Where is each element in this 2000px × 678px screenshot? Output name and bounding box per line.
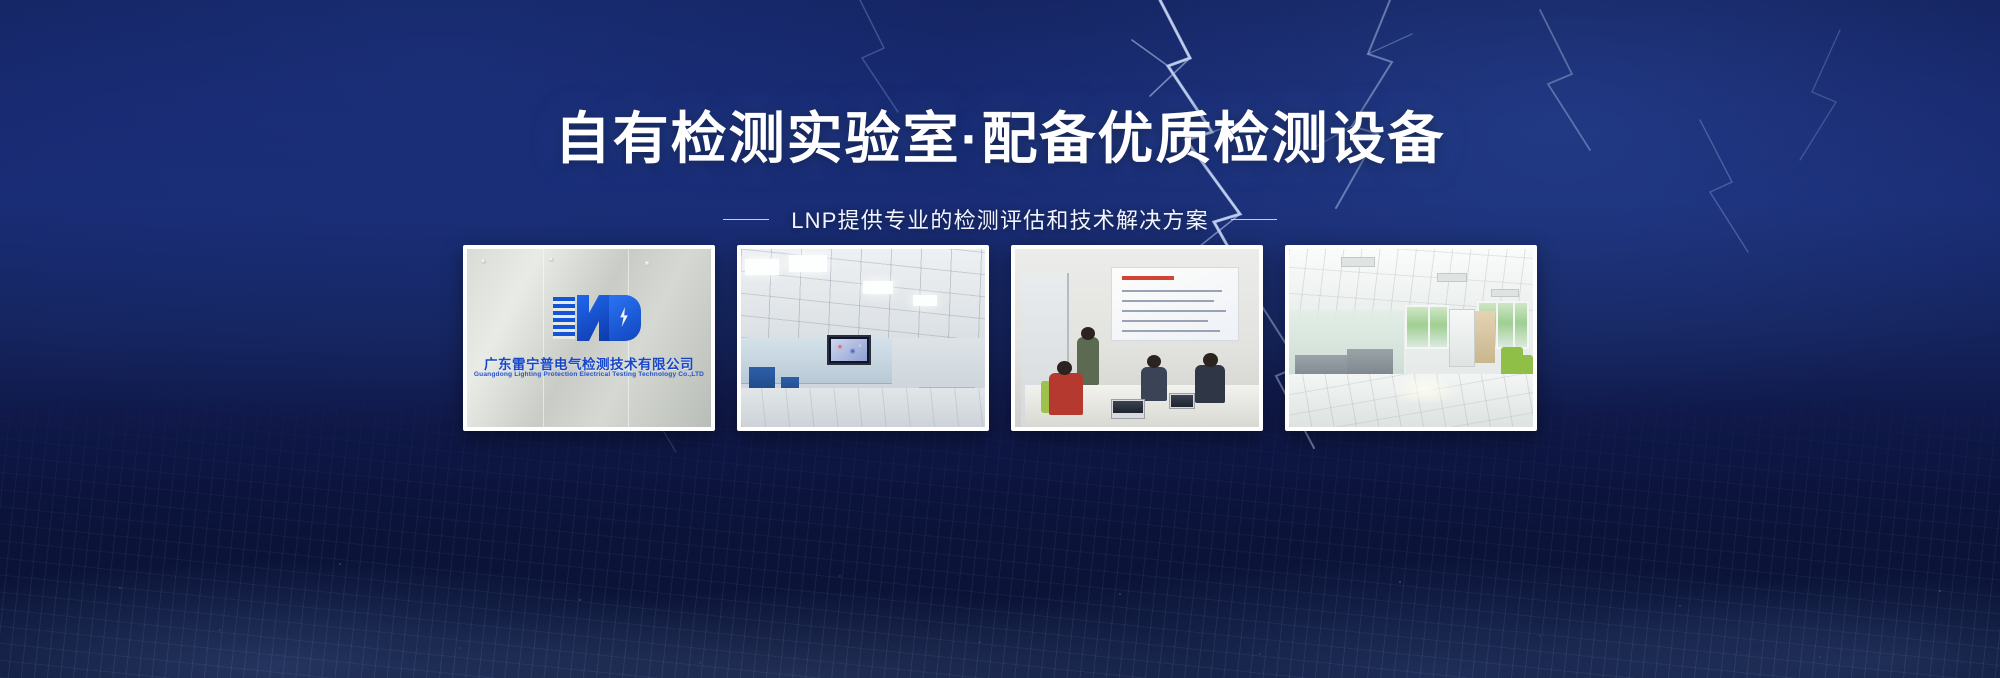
wall-seam xyxy=(543,249,544,427)
person-seated xyxy=(1195,365,1225,403)
person-presenter-head xyxy=(1081,327,1095,340)
subtitle-rule-left xyxy=(723,219,769,220)
ceiling-vent xyxy=(1491,289,1519,297)
slide-line xyxy=(1122,300,1214,302)
wall-screw xyxy=(549,257,554,262)
window xyxy=(1405,305,1449,349)
banner-subtitle: LNP提供专业的检测评估和技术解决方案 xyxy=(791,203,1209,235)
ceiling-light xyxy=(789,255,827,272)
lnp-logo-icon xyxy=(553,293,641,343)
person-seated-head xyxy=(1147,355,1161,368)
logo-letter-n xyxy=(577,295,611,341)
person-seated-head xyxy=(1203,353,1218,367)
wall-screw xyxy=(481,259,486,264)
hero-banner: 自有检测实验室·配备优质检测设备 LNP提供专业的检测评估和技术解决方案 广东雷… xyxy=(0,0,2000,678)
wall-screw xyxy=(645,261,650,266)
slide-line xyxy=(1122,330,1220,332)
office-photo xyxy=(1289,249,1533,427)
sunlight-reflection xyxy=(1389,375,1459,405)
slide-line xyxy=(1122,290,1222,292)
ceiling-vent xyxy=(1341,257,1375,267)
person-seated xyxy=(1049,373,1083,415)
gallery-panel-training-meeting-room[interactable] xyxy=(1011,245,1263,431)
person-seated-head xyxy=(1057,361,1072,375)
slide-line xyxy=(1122,310,1226,312)
shelf-unit xyxy=(1475,311,1495,363)
company-name-cn: 广东雷宁普电气检测技术有限公司 xyxy=(467,353,711,373)
signage-photo: 广东雷宁普电气检测技术有限公司 Guangdong Lighting Prote… xyxy=(467,249,711,427)
ceiling-light xyxy=(745,259,779,275)
floor xyxy=(741,388,985,427)
gallery-panel-testing-laboratory[interactable] xyxy=(737,245,989,431)
banner-subtitle-row: LNP提供专业的检测评估和技术解决方案 xyxy=(0,203,2000,235)
gallery-panel-office-area[interactable] xyxy=(1285,245,1537,431)
slide-title xyxy=(1122,276,1174,280)
company-name-en: Guangdong Lighting Protection Electrical… xyxy=(467,371,711,378)
logo-bars xyxy=(553,297,575,339)
laptop xyxy=(1111,399,1145,419)
projection-screen xyxy=(1111,267,1239,341)
cabinet xyxy=(1449,309,1475,367)
gallery-panel-company-signage[interactable]: 广东雷宁普电气检测技术有限公司 Guangdong Lighting Prote… xyxy=(463,245,715,431)
banner-headline: 自有检测实验室·配备优质检测设备 xyxy=(0,108,2000,171)
laboratory-photo xyxy=(741,249,985,427)
wall-mounted-monitor xyxy=(827,335,871,365)
meeting-room-photo xyxy=(1015,249,1259,427)
laptop xyxy=(1169,393,1195,409)
person-seated xyxy=(1141,367,1167,401)
ceiling-light xyxy=(913,295,937,306)
ceiling-light xyxy=(863,281,893,294)
subtitle-rule-right xyxy=(1231,219,1277,220)
ceiling-vent xyxy=(1437,273,1467,282)
gallery-strip: 广东雷宁普电气检测技术有限公司 Guangdong Lighting Prote… xyxy=(0,245,2000,431)
slide-line xyxy=(1122,320,1208,322)
logo-letter-p-with-bolt xyxy=(609,295,641,341)
